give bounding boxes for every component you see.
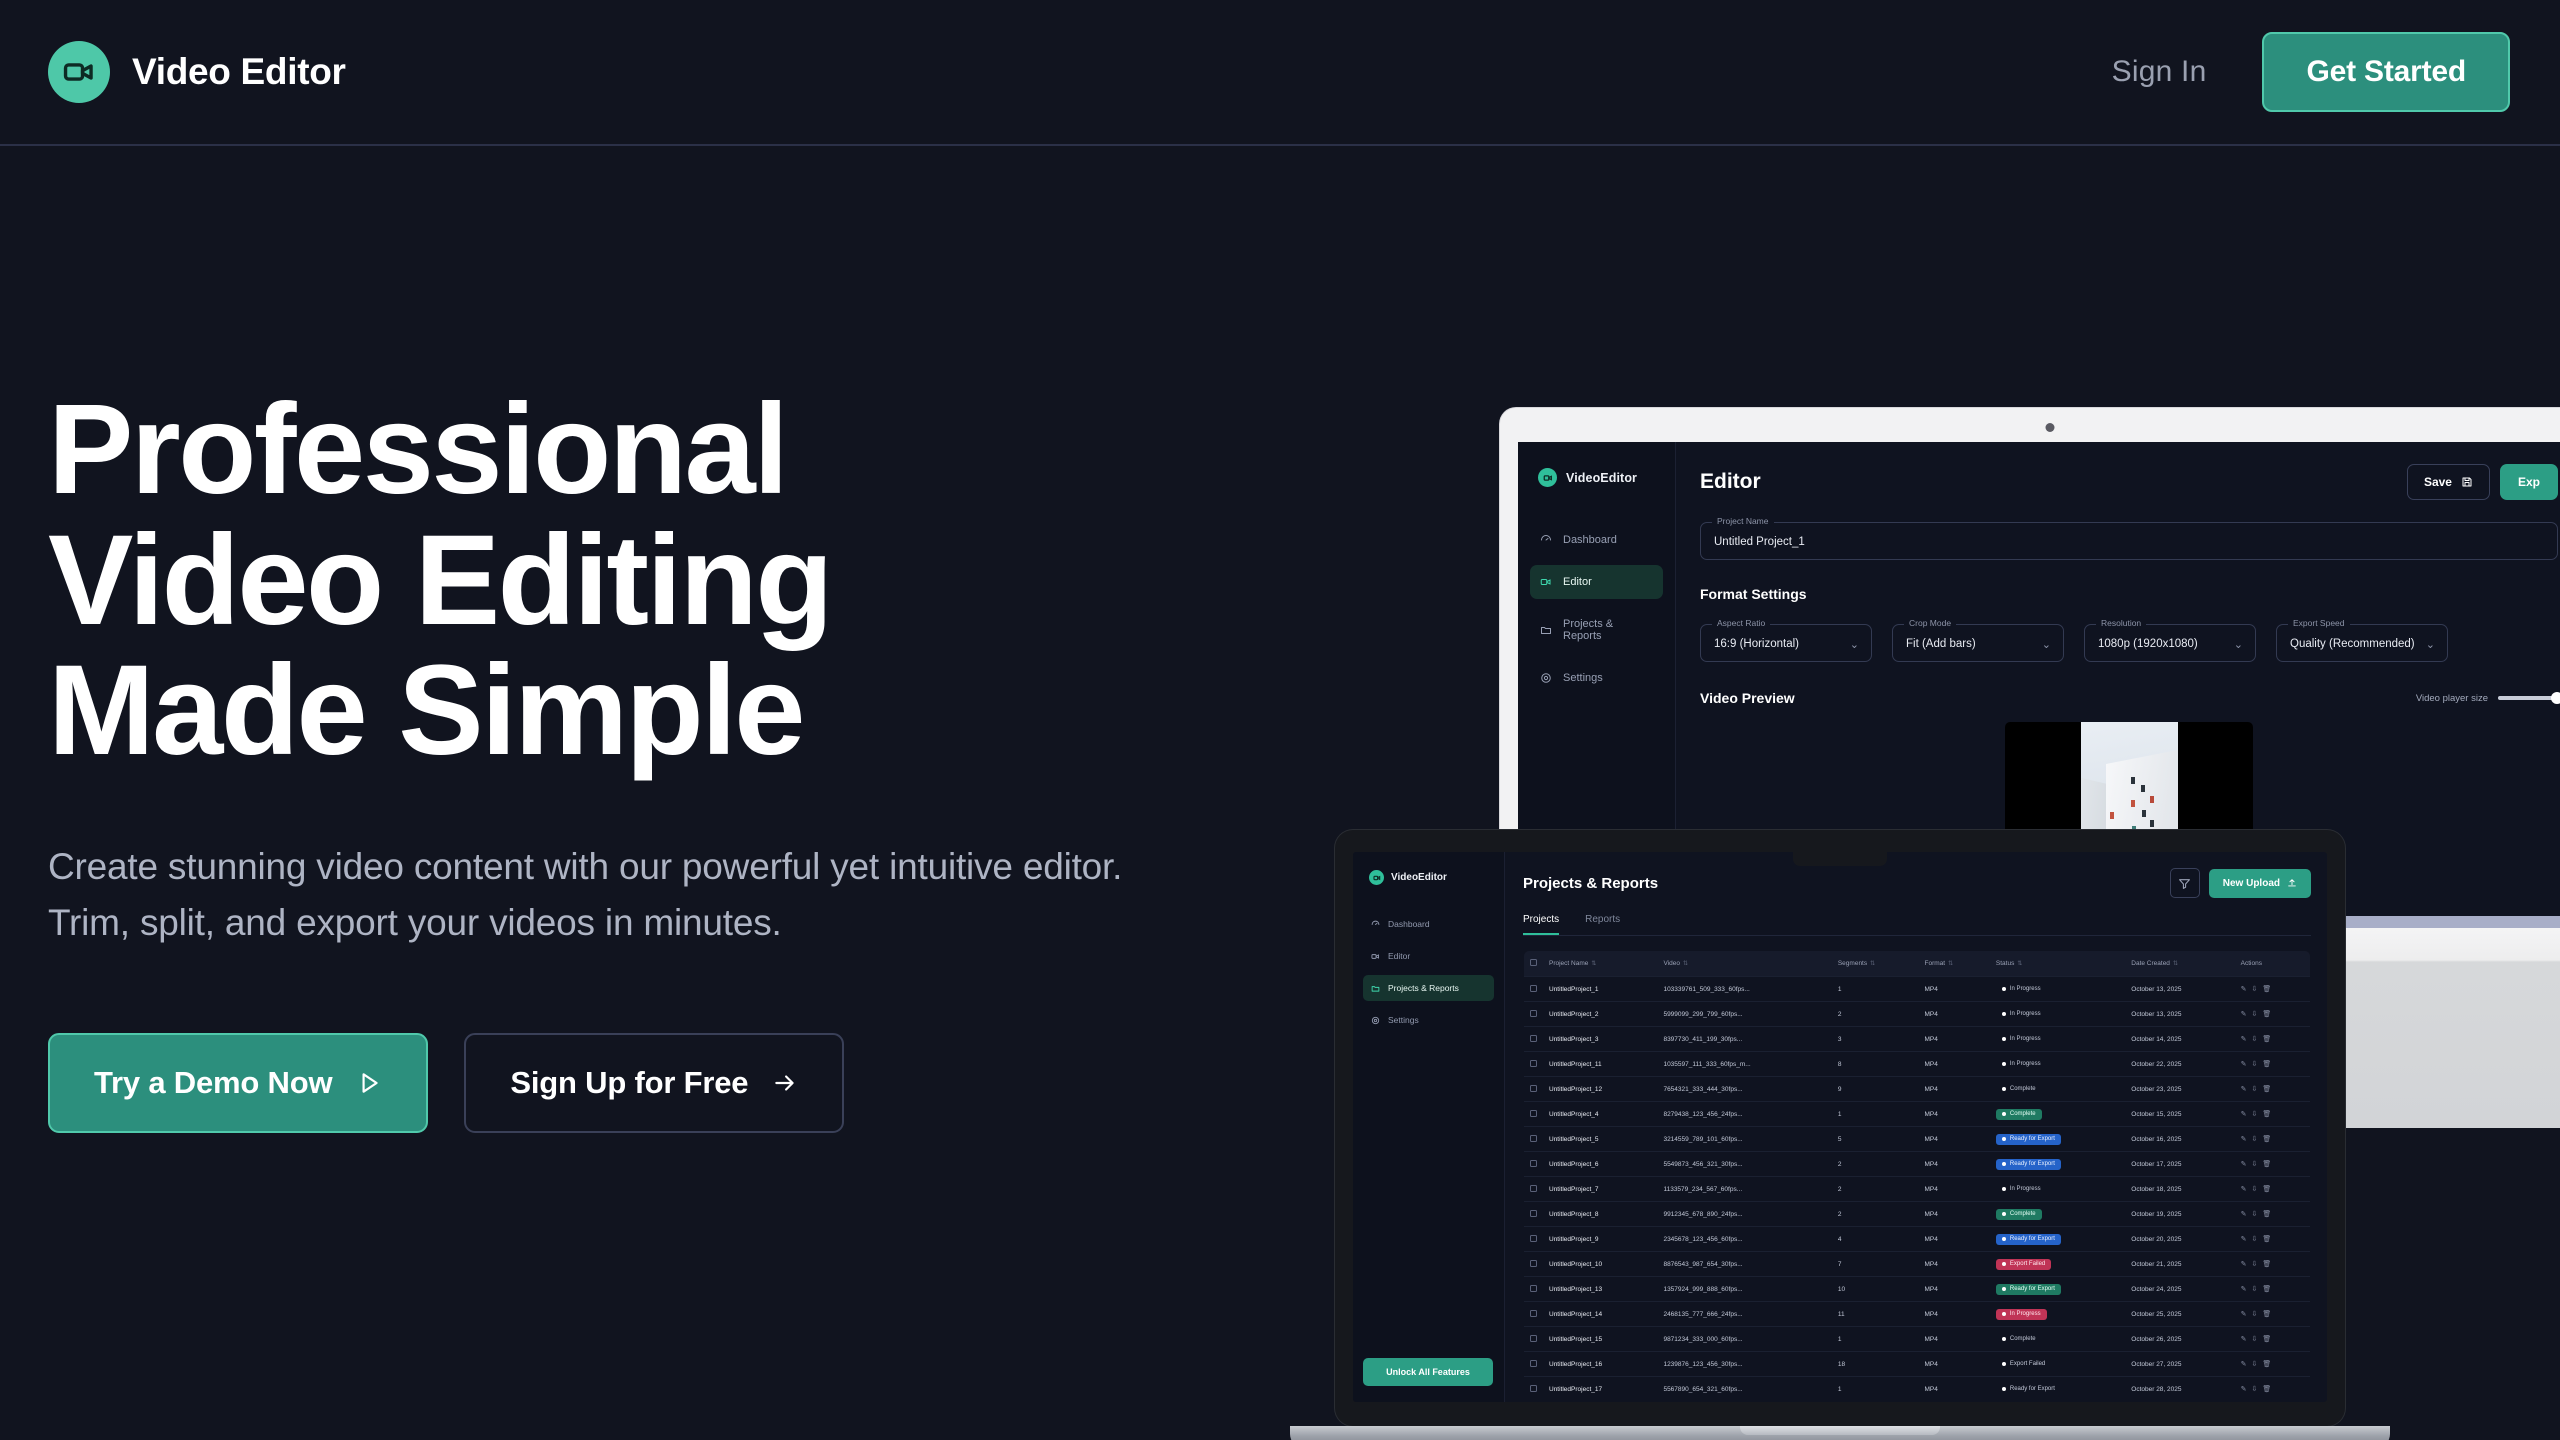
cell-video: 8279438_123_456_24fps... bbox=[1657, 1102, 1831, 1127]
checkbox-icon[interactable] bbox=[1530, 1235, 1537, 1242]
cell-actions[interactable]: ✎⇩🗑 bbox=[2235, 1052, 2311, 1077]
sidebar-label: Settings bbox=[1563, 672, 1603, 684]
cell-project-name: UntitledProject_13 bbox=[1543, 1277, 1657, 1302]
checkbox-icon[interactable] bbox=[1530, 985, 1537, 992]
table-row[interactable]: UntitledProject_131357924_999_888_60fps.… bbox=[1524, 1277, 2311, 1302]
col-video[interactable]: Video⇅ bbox=[1657, 951, 1831, 977]
table-row[interactable]: UntitledProject_48279438_123_456_24fps..… bbox=[1524, 1102, 2311, 1127]
resolution-label: Resolution bbox=[2096, 618, 2146, 628]
table-row[interactable]: UntitledProject_71133579_234_567_60fps..… bbox=[1524, 1177, 2311, 1202]
checkbox-icon[interactable] bbox=[1530, 1335, 1537, 1342]
cell-actions[interactable]: ✎⇩🗑 bbox=[2235, 1277, 2311, 1302]
edit-icon[interactable]: ✎ bbox=[2241, 1360, 2247, 1368]
select-all-header[interactable] bbox=[1524, 951, 1544, 977]
checkbox-icon[interactable] bbox=[1530, 1010, 1537, 1017]
delete-icon[interactable]: 🗑 bbox=[2262, 1235, 2271, 1243]
editor-header: Editor Save Exp bbox=[1700, 464, 2558, 500]
edit-icon[interactable]: ✎ bbox=[2241, 1210, 2247, 1218]
export-icon[interactable]: ⇩ bbox=[2252, 1235, 2258, 1243]
status-badge: Ready for Export bbox=[1996, 1284, 2061, 1295]
cell-video: 8397730_411_199_30fps... bbox=[1657, 1027, 1831, 1052]
delete-icon[interactable]: 🗑 bbox=[2262, 1285, 2271, 1293]
cell-format: MP4 bbox=[1919, 1352, 1990, 1377]
cell-status: Complete bbox=[1990, 1102, 2125, 1127]
row-checkbox-cell[interactable] bbox=[1524, 1227, 1544, 1252]
sidebar-item-settings[interactable]: Settings bbox=[1363, 1007, 1494, 1033]
cell-format: MP4 bbox=[1919, 1127, 1990, 1152]
edit-icon[interactable]: ✎ bbox=[2241, 1260, 2247, 1268]
checkbox-icon[interactable] bbox=[1530, 959, 1537, 966]
sign-in-link[interactable]: Sign In bbox=[2112, 55, 2207, 89]
cell-video: 2345678_123_456_60fps... bbox=[1657, 1227, 1831, 1252]
cell-actions[interactable]: ✎⇩🗑 bbox=[2235, 1352, 2311, 1377]
cell-video: 5999099_299_799_60fps... bbox=[1657, 1002, 1831, 1027]
delete-icon[interactable]: 🗑 bbox=[2262, 1385, 2271, 1393]
delete-icon[interactable]: 🗑 bbox=[2262, 1110, 2271, 1118]
player-size-slider[interactable] bbox=[2498, 696, 2558, 700]
checkbox-icon[interactable] bbox=[1530, 1285, 1537, 1292]
checkbox-icon[interactable] bbox=[1530, 1185, 1537, 1192]
row-checkbox-cell[interactable] bbox=[1524, 977, 1544, 1002]
sidebar-label: Projects & Reports bbox=[1563, 618, 1653, 642]
table-row[interactable]: UntitledProject_65549873_456_321_30fps..… bbox=[1524, 1152, 2311, 1177]
status-dot-icon bbox=[2002, 1062, 2006, 1066]
delete-icon[interactable]: 🗑 bbox=[2262, 1210, 2271, 1218]
format-settings-title: Format Settings bbox=[1700, 586, 2558, 602]
checkbox-icon[interactable] bbox=[1530, 1260, 1537, 1267]
status-badge: In Progress bbox=[1996, 1309, 2047, 1320]
video-preview-header: Video Preview Video player size bbox=[1700, 690, 2558, 706]
cell-status: Ready for Export bbox=[1990, 1227, 2125, 1252]
cell-actions[interactable]: ✎⇩🗑 bbox=[2235, 1027, 2311, 1052]
edit-icon[interactable]: ✎ bbox=[2241, 1060, 2247, 1068]
cell-video: 1035597_111_333_60fps_m... bbox=[1657, 1052, 1831, 1077]
project-name-field[interactable]: Project Name Untitled Project_1 bbox=[1700, 522, 2558, 560]
unlock-all-features-button[interactable]: Unlock All Features bbox=[1363, 1358, 1493, 1386]
cell-project-name: UntitledProject_8 bbox=[1543, 1202, 1657, 1227]
sort-icon: ⇅ bbox=[1948, 961, 1953, 967]
cell-date-created: October 17, 2025 bbox=[2125, 1152, 2234, 1177]
video-camera-icon bbox=[1538, 468, 1557, 487]
delete-icon[interactable]: 🗑 bbox=[2262, 1035, 2271, 1043]
export-icon[interactable]: ⇩ bbox=[2252, 1060, 2258, 1068]
chevron-down-icon: ⌄ bbox=[2426, 638, 2435, 651]
edit-icon[interactable]: ✎ bbox=[2241, 1335, 2247, 1343]
edit-icon[interactable]: ✎ bbox=[2241, 1160, 2247, 1168]
cell-video: 2468135_777_666_24fps... bbox=[1657, 1302, 1831, 1327]
cell-format: MP4 bbox=[1919, 1027, 1990, 1052]
sidebar-item-dashboard[interactable]: Dashboard bbox=[1363, 911, 1494, 937]
export-icon[interactable]: ⇩ bbox=[2252, 1335, 2258, 1343]
editor-brand-name: VideoEditor bbox=[1566, 471, 1637, 485]
save-button[interactable]: Save bbox=[2407, 464, 2490, 500]
cell-video: 7654321_333_444_30fps... bbox=[1657, 1077, 1831, 1102]
laptop-mockup: VideoEditor Dashboard Editor Projec bbox=[1335, 830, 2345, 1440]
cell-date-created: October 24, 2025 bbox=[2125, 1277, 2234, 1302]
delete-icon[interactable]: 🗑 bbox=[2262, 1260, 2271, 1268]
table-row[interactable]: UntitledProject_25999099_299_799_60fps..… bbox=[1524, 1002, 2311, 1027]
projects-brand-name: VideoEditor bbox=[1391, 872, 1447, 883]
device-mockup-stage: VideoEditor Dashboard Editor Projec bbox=[1340, 380, 2560, 1280]
sidebar-item-editor[interactable]: Editor bbox=[1530, 565, 1663, 599]
cell-actions[interactable]: ✎⇩🗑 bbox=[2235, 1202, 2311, 1227]
cell-project-name: UntitledProject_9 bbox=[1543, 1227, 1657, 1252]
table-row[interactable]: UntitledProject_53214559_789_101_60fps..… bbox=[1524, 1127, 2311, 1152]
cell-video: 8876543_987_654_30fps... bbox=[1657, 1252, 1831, 1277]
cell-status: In Progress bbox=[1990, 1177, 2125, 1202]
cell-segments: 1 bbox=[1832, 1327, 1919, 1352]
video-preview-title: Video Preview bbox=[1700, 690, 1795, 706]
cell-project-name: UntitledProject_1 bbox=[1543, 977, 1657, 1002]
cell-format: MP4 bbox=[1919, 1277, 1990, 1302]
cell-segments: 2 bbox=[1832, 1152, 1919, 1177]
try-demo-label: Try a Demo Now bbox=[94, 1065, 332, 1101]
floppy-disk-icon bbox=[2461, 476, 2473, 488]
projects-main-panel: Projects & Reports New Upload bbox=[1505, 852, 2327, 1402]
status-badge: In Progress bbox=[1996, 1059, 2047, 1070]
table-row[interactable]: UntitledProject_108876543_987_654_30fps.… bbox=[1524, 1252, 2311, 1277]
row-checkbox-cell[interactable] bbox=[1524, 1277, 1544, 1302]
col-segments[interactable]: Segments⇅ bbox=[1832, 951, 1919, 977]
delete-icon[interactable]: 🗑 bbox=[2262, 1135, 2271, 1143]
cell-status: Export Failed bbox=[1990, 1252, 2125, 1277]
cell-project-name: UntitledProject_6 bbox=[1543, 1152, 1657, 1177]
cell-segments: 10 bbox=[1832, 1277, 1919, 1302]
cell-status: Ready for Export bbox=[1990, 1152, 2125, 1177]
cell-project-name: UntitledProject_5 bbox=[1543, 1127, 1657, 1152]
cell-date-created: October 21, 2025 bbox=[2125, 1252, 2234, 1277]
delete-icon[interactable]: 🗑 bbox=[2262, 1185, 2271, 1193]
status-dot-icon bbox=[2002, 1387, 2006, 1391]
row-checkbox-cell[interactable] bbox=[1524, 1077, 1544, 1102]
delete-icon[interactable]: 🗑 bbox=[2262, 1310, 2271, 1318]
status-badge: In Progress bbox=[1996, 1009, 2047, 1020]
cell-actions[interactable]: ✎⇩🗑 bbox=[2235, 1177, 2311, 1202]
cell-status: In Progress bbox=[1990, 977, 2125, 1002]
format-settings-grid: Aspect Ratio 16:9 (Horizontal) ⌄ Crop Mo… bbox=[1700, 602, 2558, 662]
cell-project-name: UntitledProject_2 bbox=[1543, 1002, 1657, 1027]
row-checkbox-cell[interactable] bbox=[1524, 1327, 1544, 1352]
folder-icon bbox=[1371, 984, 1380, 993]
row-checkbox-cell[interactable] bbox=[1524, 1127, 1544, 1152]
sidebar-label: Editor bbox=[1563, 576, 1592, 588]
cell-actions[interactable]: ✎⇩🗑 bbox=[2235, 1127, 2311, 1152]
table-header: Project Name⇅ Video⇅ Segments⇅ Format⇅ S… bbox=[1524, 951, 2311, 977]
row-checkbox-cell[interactable] bbox=[1524, 1152, 1544, 1177]
export-icon[interactable]: ⇩ bbox=[2252, 1260, 2258, 1268]
sort-icon: ⇅ bbox=[1683, 961, 1688, 967]
cell-date-created: October 13, 2025 bbox=[2125, 1002, 2234, 1027]
cell-video: 1357924_999_888_60fps... bbox=[1657, 1277, 1831, 1302]
cell-date-created: October 23, 2025 bbox=[2125, 1077, 2234, 1102]
export-speed-label: Export Speed bbox=[2288, 618, 2350, 628]
sidebar-label: Dashboard bbox=[1388, 919, 1430, 929]
cell-format: MP4 bbox=[1919, 1177, 1990, 1202]
laptop-base-notch bbox=[1740, 1426, 1940, 1435]
row-checkbox-cell[interactable] bbox=[1524, 1102, 1544, 1127]
sort-icon: ⇅ bbox=[2017, 961, 2022, 967]
delete-icon[interactable]: 🗑 bbox=[2262, 1060, 2271, 1068]
cell-format: MP4 bbox=[1919, 1077, 1990, 1102]
cell-format: MP4 bbox=[1919, 1102, 1990, 1127]
row-checkbox-cell[interactable] bbox=[1524, 1052, 1544, 1077]
cell-date-created: October 22, 2025 bbox=[2125, 1052, 2234, 1077]
sidebar-item-editor[interactable]: Editor bbox=[1363, 943, 1494, 969]
editor-header-actions: Save Exp bbox=[2407, 464, 2558, 500]
cell-actions[interactable]: ✎⇩🗑 bbox=[2235, 1077, 2311, 1102]
row-checkbox-cell[interactable] bbox=[1524, 1177, 1544, 1202]
edit-icon[interactable]: ✎ bbox=[2241, 1110, 2247, 1118]
editor-brand: VideoEditor bbox=[1538, 468, 1663, 487]
row-checkbox-cell[interactable] bbox=[1524, 1252, 1544, 1277]
status-badge: Complete bbox=[1996, 1334, 2042, 1345]
export-icon[interactable]: ⇩ bbox=[2252, 1110, 2258, 1118]
export-icon[interactable]: ⇩ bbox=[2252, 1385, 2258, 1393]
row-checkbox-cell[interactable] bbox=[1524, 1352, 1544, 1377]
edit-icon[interactable]: ✎ bbox=[2241, 1285, 2247, 1293]
delete-icon[interactable]: 🗑 bbox=[2262, 1085, 2271, 1093]
chevron-down-icon: ⌄ bbox=[2042, 638, 2051, 651]
table-row[interactable]: UntitledProject_127654321_333_444_30fps.… bbox=[1524, 1077, 2311, 1102]
cell-segments: 1 bbox=[1832, 977, 1919, 1002]
delete-icon[interactable]: 🗑 bbox=[2262, 1010, 2271, 1018]
sidebar-item-settings[interactable]: Settings bbox=[1530, 661, 1663, 695]
edit-icon[interactable]: ✎ bbox=[2241, 1235, 2247, 1243]
export-icon[interactable]: ⇩ bbox=[2252, 1135, 2258, 1143]
cell-date-created: October 14, 2025 bbox=[2125, 1027, 2234, 1052]
cell-project-name: UntitledProject_3 bbox=[1543, 1027, 1657, 1052]
cell-format: MP4 bbox=[1919, 1302, 1990, 1327]
cell-actions[interactable]: ✎⇩🗑 bbox=[2235, 1252, 2311, 1277]
col-project-name[interactable]: Project Name⇅ bbox=[1543, 951, 1657, 977]
heading-line-3: Made Simple bbox=[48, 646, 1148, 777]
upload-icon bbox=[2287, 878, 2297, 888]
laptop-lid: VideoEditor Dashboard Editor Projec bbox=[1335, 830, 2345, 1426]
cell-actions[interactable]: ✎⇩🗑 bbox=[2235, 1227, 2311, 1252]
cell-segments: 4 bbox=[1832, 1227, 1919, 1252]
edit-icon[interactable]: ✎ bbox=[2241, 1385, 2247, 1393]
cell-actions[interactable]: ✎⇩🗑 bbox=[2235, 1377, 2311, 1402]
cell-video: 5567890_654_321_60fps... bbox=[1657, 1377, 1831, 1402]
gauge-icon bbox=[1540, 534, 1552, 546]
cell-status: In Progress bbox=[1990, 1027, 2125, 1052]
edit-icon[interactable]: ✎ bbox=[2241, 1310, 2247, 1318]
edit-icon[interactable]: ✎ bbox=[2241, 1135, 2247, 1143]
checkbox-icon[interactable] bbox=[1530, 1035, 1537, 1042]
aspect-ratio-select[interactable]: Aspect Ratio 16:9 (Horizontal) ⌄ bbox=[1700, 624, 1872, 662]
export-icon[interactable]: ⇩ bbox=[2252, 1085, 2258, 1093]
row-checkbox-cell[interactable] bbox=[1524, 1002, 1544, 1027]
col-actions: Actions bbox=[2235, 951, 2311, 977]
hero-section: Professional Video Editing Made Simple C… bbox=[48, 385, 1148, 1133]
sort-icon: ⇅ bbox=[1870, 961, 1875, 967]
cell-status: In Progress bbox=[1990, 1052, 2125, 1077]
checkbox-icon[interactable] bbox=[1530, 1360, 1537, 1367]
cell-actions[interactable]: ✎⇩🗑 bbox=[2235, 1302, 2311, 1327]
status-badge: Complete bbox=[1996, 1209, 2042, 1220]
video-camera-icon bbox=[48, 41, 110, 103]
projects-header-actions: New Upload bbox=[2170, 868, 2311, 898]
laptop-screen: VideoEditor Dashboard Editor Projec bbox=[1353, 852, 2327, 1402]
checkbox-icon[interactable] bbox=[1530, 1110, 1537, 1117]
status-dot-icon bbox=[2002, 1162, 2006, 1166]
export-icon[interactable]: ⇩ bbox=[2252, 985, 2258, 993]
table-row[interactable]: UntitledProject_175567890_654_321_60fps.… bbox=[1524, 1377, 2311, 1402]
col-date-created[interactable]: Date Created⇅ bbox=[2125, 951, 2234, 977]
aspect-ratio-label: Aspect Ratio bbox=[1712, 618, 1770, 628]
status-dot-icon bbox=[2002, 1037, 2006, 1041]
status-dot-icon bbox=[2002, 1212, 2006, 1216]
try-demo-button[interactable]: Try a Demo Now bbox=[48, 1033, 428, 1133]
cell-segments: 11 bbox=[1832, 1302, 1919, 1327]
cell-actions[interactable]: ✎⇩🗑 bbox=[2235, 1152, 2311, 1177]
laptop-base bbox=[1290, 1426, 2390, 1440]
export-icon[interactable]: ⇩ bbox=[2252, 1160, 2258, 1168]
delete-icon[interactable]: 🗑 bbox=[2262, 1160, 2271, 1168]
save-label: Save bbox=[2424, 475, 2452, 489]
cell-segments: 8 bbox=[1832, 1052, 1919, 1077]
cell-segments: 18 bbox=[1832, 1352, 1919, 1377]
delete-icon[interactable]: 🗑 bbox=[2262, 1360, 2271, 1368]
brand-logo-group[interactable]: Video Editor bbox=[48, 41, 346, 103]
status-badge: In Progress bbox=[1996, 984, 2047, 995]
page-title: Professional Video Editing Made Simple bbox=[48, 385, 1148, 777]
cell-video: 9912345_678_890_24fps... bbox=[1657, 1202, 1831, 1227]
sidebar-item-projects-reports[interactable]: Projects & Reports bbox=[1363, 975, 1494, 1001]
cell-segments: 3 bbox=[1832, 1027, 1919, 1052]
new-upload-button[interactable]: New Upload bbox=[2209, 869, 2311, 898]
video-player-size-control[interactable]: Video player size bbox=[2416, 693, 2558, 704]
export-button[interactable]: Exp bbox=[2500, 464, 2558, 500]
cell-project-name: UntitledProject_11 bbox=[1543, 1052, 1657, 1077]
export-icon[interactable]: ⇩ bbox=[2252, 1210, 2258, 1218]
resolution-select[interactable]: Resolution 1080p (1920x1080) ⌄ bbox=[2084, 624, 2256, 662]
export-icon[interactable]: ⇩ bbox=[2252, 1360, 2258, 1368]
export-speed-value: Quality (Recommended) bbox=[2290, 638, 2415, 650]
tab-projects[interactable]: Projects bbox=[1523, 914, 1559, 935]
status-dot-icon bbox=[2002, 987, 2006, 991]
cell-date-created: October 25, 2025 bbox=[2125, 1302, 2234, 1327]
table-header-row: Project Name⇅ Video⇅ Segments⇅ Format⇅ S… bbox=[1524, 951, 2311, 977]
cell-date-created: October 19, 2025 bbox=[2125, 1202, 2234, 1227]
export-speed-select[interactable]: Export Speed Quality (Recommended) ⌄ bbox=[2276, 624, 2448, 662]
checkbox-icon[interactable] bbox=[1530, 1160, 1537, 1167]
player-size-label: Video player size bbox=[2416, 693, 2488, 704]
status-dot-icon bbox=[2002, 1312, 2006, 1316]
video-camera-icon bbox=[1540, 576, 1552, 588]
cell-video: 3214559_789_101_60fps... bbox=[1657, 1127, 1831, 1152]
table-row[interactable]: UntitledProject_89912345_678_890_24fps..… bbox=[1524, 1202, 2311, 1227]
table-row[interactable]: UntitledProject_92345678_123_456_60fps..… bbox=[1524, 1227, 2311, 1252]
export-icon[interactable]: ⇩ bbox=[2252, 1185, 2258, 1193]
cell-project-name: UntitledProject_10 bbox=[1543, 1252, 1657, 1277]
col-status[interactable]: Status⇅ bbox=[1990, 951, 2125, 977]
edit-icon[interactable]: ✎ bbox=[2241, 1035, 2247, 1043]
play-triangle-icon bbox=[356, 1070, 382, 1096]
status-badge: Complete bbox=[1996, 1084, 2042, 1095]
crop-mode-select[interactable]: Crop Mode Fit (Add bars) ⌄ bbox=[1892, 624, 2064, 662]
delete-icon[interactable]: 🗑 bbox=[2262, 1335, 2271, 1343]
status-badge: In Progress bbox=[1996, 1034, 2047, 1045]
arrow-right-icon bbox=[772, 1070, 798, 1096]
sidebar-item-projects-reports[interactable]: Projects & Reports bbox=[1530, 607, 1663, 653]
projects-sidebar: VideoEditor Dashboard Editor Projec bbox=[1353, 852, 1505, 1402]
checkbox-icon[interactable] bbox=[1530, 1310, 1537, 1317]
nav-actions: Sign In Get Started bbox=[2112, 32, 2510, 112]
sidebar-item-dashboard[interactable]: Dashboard bbox=[1530, 523, 1663, 557]
aspect-ratio-value: 16:9 (Horizontal) bbox=[1714, 638, 1799, 650]
delete-icon[interactable]: 🗑 bbox=[2262, 985, 2271, 993]
row-checkbox-cell[interactable] bbox=[1524, 1027, 1544, 1052]
col-format[interactable]: Format⇅ bbox=[1919, 951, 1990, 977]
tab-reports[interactable]: Reports bbox=[1585, 914, 1620, 935]
cell-date-created: October 16, 2025 bbox=[2125, 1127, 2234, 1152]
checkbox-icon[interactable] bbox=[1530, 1385, 1537, 1392]
sidebar-label: Dashboard bbox=[1563, 534, 1617, 546]
table-row[interactable]: UntitledProject_142468135_777_666_24fps.… bbox=[1524, 1302, 2311, 1327]
checkbox-icon[interactable] bbox=[1530, 1060, 1537, 1067]
row-checkbox-cell[interactable] bbox=[1524, 1377, 1544, 1402]
table-row[interactable]: UntitledProject_161239876_123_456_30fps.… bbox=[1524, 1352, 2311, 1377]
heading-line-2: Video Editing bbox=[48, 516, 1148, 647]
cell-status: In Progress bbox=[1990, 1002, 2125, 1027]
cell-format: MP4 bbox=[1919, 1002, 1990, 1027]
cell-project-name: UntitledProject_12 bbox=[1543, 1077, 1657, 1102]
status-badge: Ready for Export bbox=[1996, 1234, 2061, 1245]
cell-actions[interactable]: ✎⇩🗑 bbox=[2235, 1327, 2311, 1352]
laptop-notch bbox=[1793, 852, 1887, 866]
resolution-value: 1080p (1920x1080) bbox=[2098, 638, 2198, 650]
export-label: Exp bbox=[2518, 475, 2540, 489]
cell-actions[interactable]: ✎⇩🗑 bbox=[2235, 1102, 2311, 1127]
projects-app: VideoEditor Dashboard Editor Projec bbox=[1353, 852, 2327, 1402]
crop-mode-label: Crop Mode bbox=[1904, 618, 1956, 628]
status-dot-icon bbox=[2002, 1187, 2006, 1191]
cell-actions[interactable]: ✎⇩🗑 bbox=[2235, 977, 2311, 1002]
row-checkbox-cell[interactable] bbox=[1524, 1302, 1544, 1327]
sign-up-free-button[interactable]: Sign Up for Free bbox=[464, 1033, 844, 1133]
checkbox-icon[interactable] bbox=[1530, 1210, 1537, 1217]
table-row[interactable]: UntitledProject_1103339761_509_333_60fps… bbox=[1524, 977, 2311, 1002]
get-started-button[interactable]: Get Started bbox=[2262, 32, 2510, 112]
gauge-icon bbox=[1371, 920, 1380, 929]
edit-icon[interactable]: ✎ bbox=[2241, 985, 2247, 993]
table-row[interactable]: UntitledProject_159871234_333_000_60fps.… bbox=[1524, 1327, 2311, 1352]
webcam-icon bbox=[2046, 423, 2055, 432]
edit-icon[interactable]: ✎ bbox=[2241, 1010, 2247, 1018]
table-row[interactable]: UntitledProject_38397730_411_199_30fps..… bbox=[1524, 1027, 2311, 1052]
export-icon[interactable]: ⇩ bbox=[2252, 1310, 2258, 1318]
filter-funnel-icon[interactable] bbox=[2170, 868, 2200, 898]
video-camera-icon bbox=[1369, 870, 1384, 885]
export-icon[interactable]: ⇩ bbox=[2252, 1035, 2258, 1043]
edit-icon[interactable]: ✎ bbox=[2241, 1185, 2247, 1193]
edit-icon[interactable]: ✎ bbox=[2241, 1085, 2247, 1093]
cell-segments: 2 bbox=[1832, 1202, 1919, 1227]
checkbox-icon[interactable] bbox=[1530, 1085, 1537, 1092]
export-icon[interactable]: ⇩ bbox=[2252, 1285, 2258, 1293]
status-badge: Ready for Export bbox=[1996, 1159, 2061, 1170]
brand-name: Video Editor bbox=[132, 51, 346, 93]
cell-format: MP4 bbox=[1919, 1227, 1990, 1252]
status-badge: Export Failed bbox=[1996, 1359, 2051, 1370]
export-icon[interactable]: ⇩ bbox=[2252, 1010, 2258, 1018]
table-row[interactable]: UntitledProject_111035597_111_333_60fps_… bbox=[1524, 1052, 2311, 1077]
row-checkbox-cell[interactable] bbox=[1524, 1202, 1544, 1227]
status-dot-icon bbox=[2002, 1287, 2006, 1291]
checkbox-icon[interactable] bbox=[1530, 1135, 1537, 1142]
cell-actions[interactable]: ✎⇩🗑 bbox=[2235, 1002, 2311, 1027]
